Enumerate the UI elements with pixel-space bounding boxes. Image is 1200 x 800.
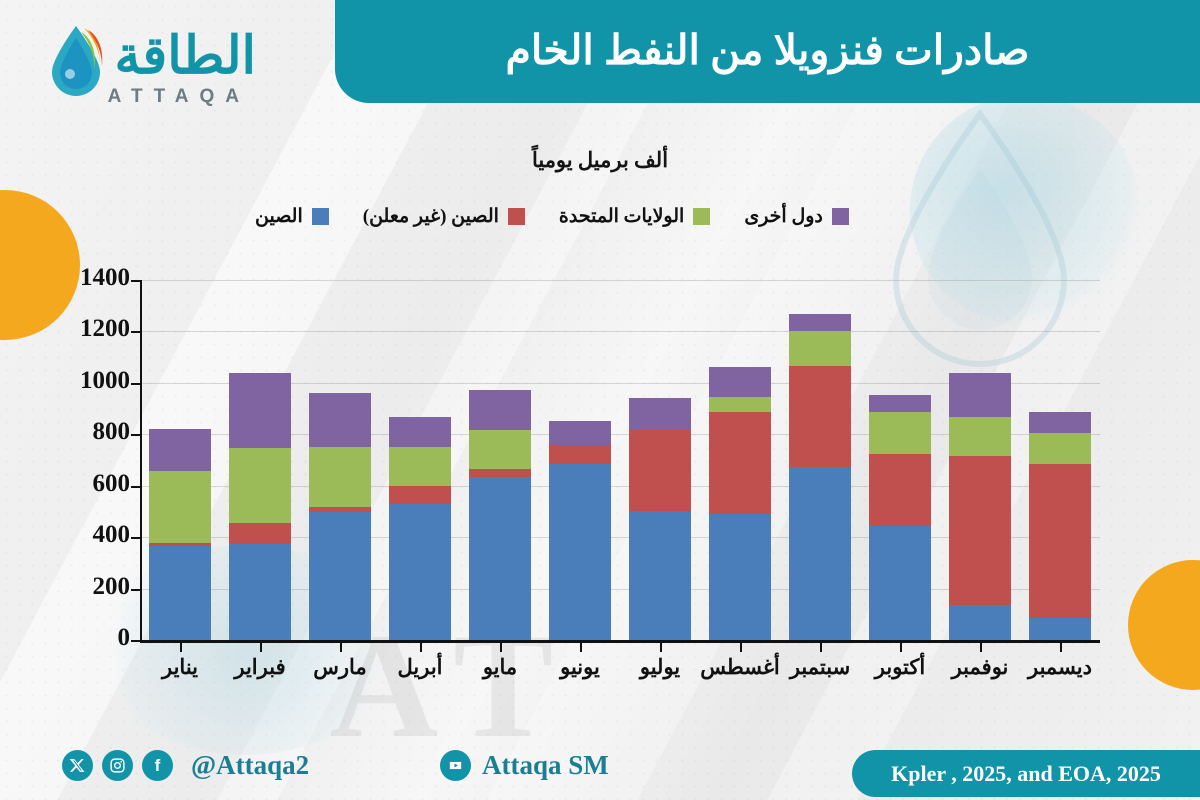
water-drop-icon — [48, 24, 104, 96]
stacked-bar[interactable] — [549, 421, 611, 640]
facebook-icon[interactable]: f — [142, 750, 173, 781]
stacked-bar[interactable] — [309, 393, 371, 640]
bar-slot — [700, 280, 780, 640]
x-axis-label-slot: ديسمبر — [1020, 655, 1100, 680]
attaqa-logo: الطاقة ATTAQA — [48, 24, 318, 112]
x-axis-tick-label: مارس — [313, 655, 366, 680]
x-axis-tick-slot — [1020, 643, 1100, 653]
source-badge: Kpler , 2025, and EOA, 2025 — [852, 750, 1200, 797]
x-axis-tick-slot — [700, 643, 780, 653]
header-title-bar: صادرات فنزويلا من النفط الخام — [335, 0, 1200, 103]
x-axis-label-slot: سبتمبر — [780, 655, 860, 680]
bar-segment[interactable] — [709, 367, 771, 396]
x-axis-tick — [660, 643, 662, 652]
x-axis-tick — [500, 643, 502, 652]
x-axis-tick-label: يناير — [162, 655, 198, 680]
y-axis-tick — [131, 331, 140, 333]
x-axis-label-slot: يوليو — [620, 655, 700, 680]
x-axis-tick — [260, 643, 262, 652]
legend-item[interactable]: الصين — [255, 205, 329, 228]
legend-item[interactable]: الصين (غير معلن) — [363, 205, 525, 228]
bar-slot — [380, 280, 460, 640]
x-axis-tick-slot — [380, 643, 460, 653]
stacked-bar[interactable] — [949, 373, 1011, 640]
bar-segment[interactable] — [789, 314, 851, 331]
logo-arabic-text: الطاقة — [114, 26, 256, 86]
stacked-bar[interactable] — [789, 314, 851, 640]
bar-segment[interactable] — [389, 447, 451, 486]
y-axis-tick — [131, 434, 140, 436]
bar-segment[interactable] — [789, 366, 851, 467]
x-axis-ticks — [140, 643, 1100, 653]
page-title: صادرات فنزويلا من النفط الخام — [506, 26, 1030, 78]
legend-swatch-icon — [508, 208, 525, 225]
bar-segment[interactable] — [1029, 464, 1091, 618]
bar-segment[interactable] — [229, 373, 291, 448]
bar-slot — [860, 280, 940, 640]
x-axis-tick-slot — [460, 643, 540, 653]
bar-segment[interactable] — [469, 430, 531, 469]
legend-label: الولايات المتحدة — [559, 205, 684, 228]
bar-segment[interactable] — [949, 373, 1011, 416]
x-axis-tick-label: مايو — [483, 655, 517, 680]
x-axis-label-slot: أكتوبر — [860, 655, 940, 680]
bar-segment[interactable] — [229, 544, 291, 640]
y-axis-tick-label: 1200 — [10, 315, 130, 343]
x-axis-tick — [820, 643, 822, 652]
legend-swatch-icon — [693, 208, 710, 225]
bar-segment[interactable] — [949, 456, 1011, 605]
y-axis-tick — [131, 383, 140, 385]
bar-segment[interactable] — [149, 429, 211, 471]
bar-segment[interactable] — [309, 512, 371, 640]
x-axis-tick-slot — [620, 643, 700, 653]
x-axis-labels: ينايرفبرايرمارسأبريلمايويونيويوليوأغسطسس… — [140, 655, 1100, 680]
y-axis-tick — [131, 486, 140, 488]
y-axis-tick-label: 1000 — [10, 367, 130, 395]
bar-segment[interactable] — [949, 417, 1011, 456]
x-axis-tick-slot — [300, 643, 380, 653]
bar-segment[interactable] — [629, 430, 691, 512]
x-axis-tick — [180, 643, 182, 652]
stacked-bar[interactable] — [469, 390, 531, 640]
bar-segment[interactable] — [629, 398, 691, 430]
bar-segment[interactable] — [469, 390, 531, 430]
stacked-bar[interactable] — [229, 373, 291, 640]
x-axis-tick — [580, 643, 582, 652]
y-axis-tick-label: 400 — [10, 521, 130, 549]
x-axis-tick-slot — [780, 643, 860, 653]
stacked-bar[interactable] — [629, 398, 691, 640]
source-text: Kpler , 2025, and EOA, 2025 — [891, 761, 1161, 787]
y-axis-tick — [131, 589, 140, 591]
legend-label: الصين (غير معلن) — [363, 205, 499, 228]
x-axis-label-slot: فبراير — [220, 655, 300, 680]
y-axis-tick — [131, 640, 140, 642]
y-axis-tick-label: 800 — [10, 418, 130, 446]
stacked-bar[interactable] — [869, 395, 931, 640]
chart-bars — [140, 280, 1100, 640]
bar-segment[interactable] — [869, 454, 931, 526]
legend-label: دول أخرى — [744, 205, 823, 228]
y-axis-tick — [131, 280, 140, 282]
bar-slot — [780, 280, 860, 640]
legend-swatch-icon — [832, 208, 849, 225]
x-axis-tick-slot — [140, 643, 220, 653]
x-axis-tick-label: يوليو — [640, 655, 680, 680]
bar-segment[interactable] — [229, 448, 291, 523]
bar-slot — [220, 280, 300, 640]
bar-segment[interactable] — [709, 514, 771, 640]
bar-segment[interactable] — [309, 393, 371, 447]
x-axis-tick — [1060, 643, 1062, 652]
stacked-bar[interactable] — [709, 367, 771, 640]
chart-subtitle: ألف برميل يومياً — [0, 148, 1200, 173]
y-axis-tick-label: 0 — [10, 624, 130, 652]
x-axis-tick-label: سبتمبر — [790, 655, 850, 680]
legend-item[interactable]: الولايات المتحدة — [559, 205, 710, 228]
x-axis-tick — [420, 643, 422, 652]
bar-segment[interactable] — [869, 526, 931, 640]
x-axis-tick — [980, 643, 982, 652]
x-axis-tick-label: أغسطس — [700, 655, 780, 680]
bar-segment[interactable] — [389, 504, 451, 640]
bar-segment[interactable] — [949, 605, 1011, 640]
x-axis-label-slot: مارس — [300, 655, 380, 680]
x-axis-tick-slot — [940, 643, 1020, 653]
y-axis-tick-label: 200 — [10, 573, 130, 601]
bar-segment[interactable] — [869, 412, 931, 454]
bar-segment[interactable] — [789, 331, 851, 366]
x-axis-label-slot: أبريل — [380, 655, 460, 680]
y-axis-tick-label: 1400 — [10, 264, 130, 292]
legend-label: الصين — [255, 205, 303, 228]
x-axis-label-slot: أغسطس — [700, 655, 780, 680]
bar-slot — [300, 280, 380, 640]
bar-segment[interactable] — [229, 523, 291, 544]
bar-segment[interactable] — [149, 471, 211, 542]
bar-segment[interactable] — [469, 469, 531, 477]
x-axis-label-slot: يناير — [140, 655, 220, 680]
bar-segment[interactable] — [629, 511, 691, 640]
bar-slot — [460, 280, 540, 640]
x-axis-tick-slot — [860, 643, 940, 653]
bar-segment[interactable] — [709, 412, 771, 515]
chart-plot-area — [140, 280, 1100, 640]
bar-slot — [540, 280, 620, 640]
y-axis-tick-label: 600 — [10, 470, 130, 498]
x-axis-tick-label: أكتوبر — [875, 655, 925, 680]
x-axis-tick — [740, 643, 742, 652]
youtube-label: Attaqa SM — [482, 750, 609, 781]
bar-segment[interactable] — [549, 445, 611, 464]
bar-slot — [140, 280, 220, 640]
bar-segment[interactable] — [469, 477, 531, 640]
bar-slot — [940, 280, 1020, 640]
bar-slot — [620, 280, 700, 640]
bar-segment[interactable] — [789, 467, 851, 640]
x-axis-tick-label: ديسمبر — [1028, 655, 1092, 680]
bar-segment[interactable] — [549, 464, 611, 640]
x-axis-label-slot: مايو — [460, 655, 540, 680]
x-axis-tick-label: يونيو — [560, 655, 600, 680]
x-axis-tick-label: نوفمبر — [952, 655, 1009, 680]
bar-segment[interactable] — [1029, 433, 1091, 464]
bar-segment[interactable] — [1029, 412, 1091, 433]
x-twitter-icon[interactable] — [62, 750, 93, 781]
chart-legend: الصينالصين (غير معلن)الولايات المتحدةدول… — [255, 205, 935, 228]
stacked-bar[interactable] — [389, 417, 451, 640]
logo-latin-text: ATTAQA — [108, 86, 250, 108]
x-axis-tick-slot — [220, 643, 300, 653]
stacked-bar[interactable] — [1029, 412, 1091, 640]
social-handle: @Attaqa2 — [191, 750, 309, 781]
legend-item[interactable]: دول أخرى — [744, 205, 849, 228]
bar-slot — [1020, 280, 1100, 640]
bar-segment[interactable] — [389, 417, 451, 447]
y-axis-tick — [131, 537, 140, 539]
bar-segment[interactable] — [1029, 618, 1091, 640]
x-axis-tick — [900, 643, 902, 652]
stacked-bar[interactable] — [149, 429, 211, 640]
bar-segment[interactable] — [549, 421, 611, 445]
social-links[interactable]: f @Attaqa2 — [62, 750, 309, 781]
legend-swatch-icon — [312, 208, 329, 225]
youtube-link[interactable]: Attaqa SM — [440, 750, 609, 781]
x-axis-label-slot: يونيو — [540, 655, 620, 680]
instagram-icon[interactable] — [102, 750, 133, 781]
bar-segment[interactable] — [709, 397, 771, 412]
x-axis-label-slot: نوفمبر — [940, 655, 1020, 680]
x-axis-tick-label: أبريل — [397, 655, 442, 680]
youtube-icon[interactable] — [440, 750, 471, 781]
x-axis-tick-slot — [540, 643, 620, 653]
bar-segment[interactable] — [309, 447, 371, 507]
x-axis-tick-label: فبراير — [234, 655, 285, 680]
bar-segment[interactable] — [389, 486, 451, 504]
x-axis-tick — [340, 643, 342, 652]
bar-segment[interactable] — [869, 395, 931, 412]
bar-segment[interactable] — [149, 546, 211, 640]
